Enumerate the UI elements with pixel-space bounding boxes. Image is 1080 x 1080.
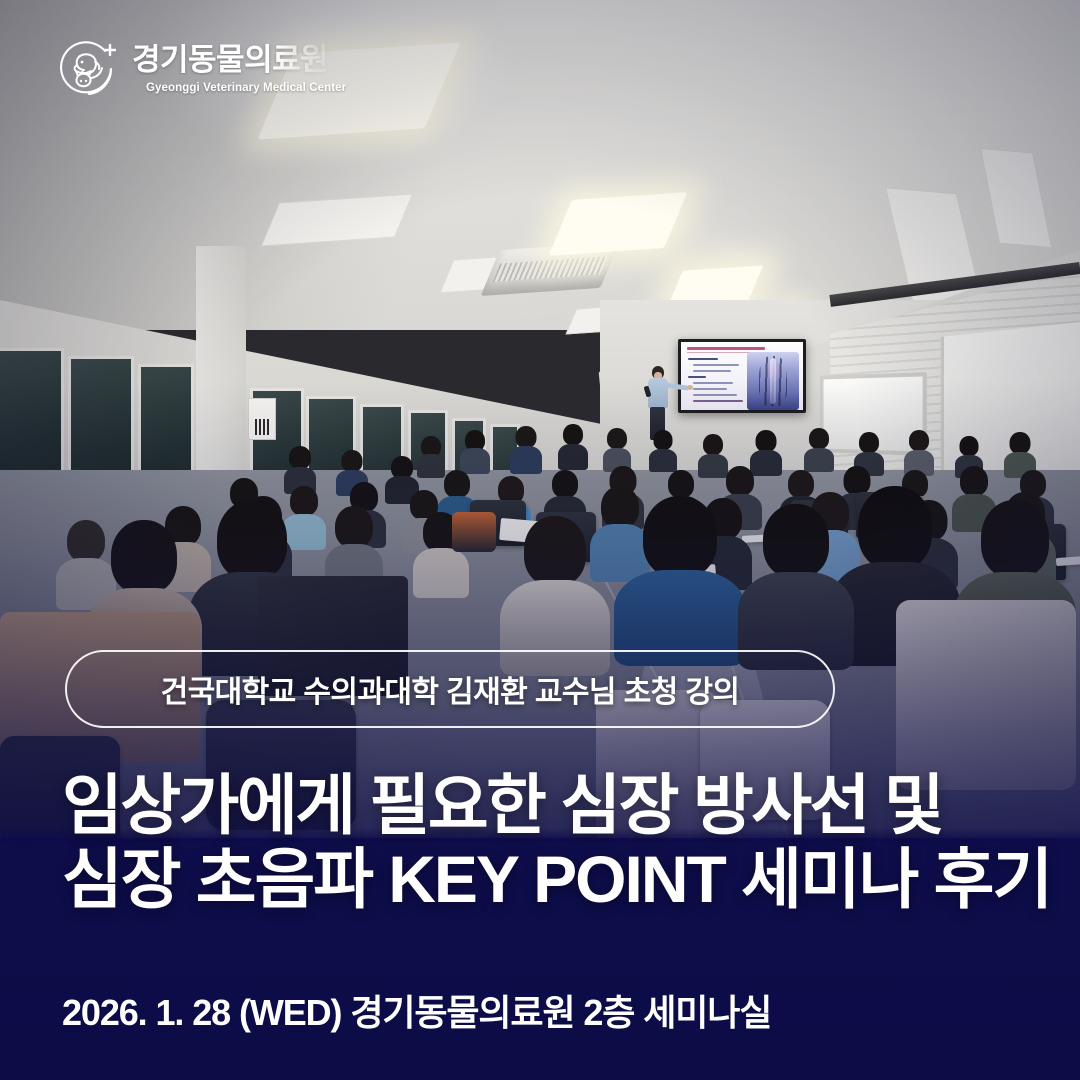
brand-name-kr: 경기동물의료원 (132, 44, 346, 75)
lecture-badge-label: 건국대학교 수의과대학 김재환 교수님 초청 강의 (161, 667, 740, 711)
seminar-promo-card: 경기동물의료원 Gyeonggi Veterinary Medical Cent… (0, 0, 1080, 1080)
page-title: 임상가에게 필요한 심장 방사선 및 심장 초음파 KEY POINT 세미나 … (62, 772, 1051, 914)
event-details: 2026. 1. 28 (WED) 경기동물의료원 2층 세미나실 (62, 984, 771, 1036)
brand-logo: 경기동물의료원 Gyeonggi Veterinary Medical Cent… (58, 38, 346, 100)
headline-line-1: 임상가에게 필요한 심장 방사선 및 (62, 772, 1051, 839)
lecture-badge: 건국대학교 수의과대학 김재환 교수님 초청 강의 (65, 650, 835, 728)
dog-cat-circle-logo-icon (58, 38, 120, 100)
brand-name-en: Gyeonggi Veterinary Medical Center (146, 82, 346, 94)
headline-line-2: 심장 초음파 KEY POINT 세미나 후기 (62, 846, 1051, 913)
brand-logo-text: 경기동물의료원 Gyeonggi Veterinary Medical Cent… (132, 44, 346, 94)
